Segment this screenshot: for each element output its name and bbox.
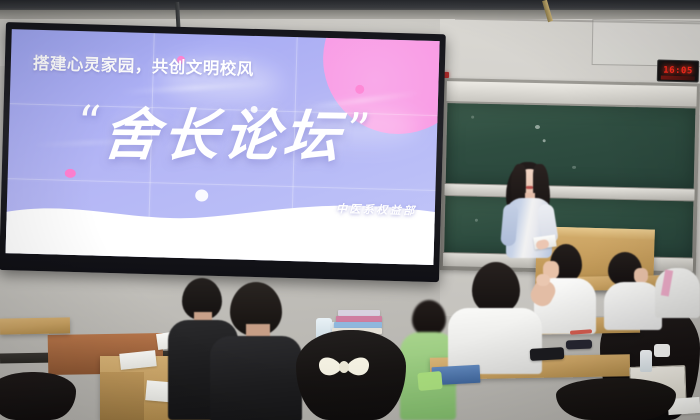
student-torso: [448, 308, 542, 374]
cup-on-desk: [654, 344, 670, 357]
presenter-lips: [526, 186, 533, 189]
classroom-photo: 16:05 搭建心灵家园，共创文明校风 “ 舍长论坛: [0, 0, 700, 420]
presentation-slide: 搭建心灵家园，共创文明校风 “ 舍长论坛 ” 中医系权益部: [6, 29, 440, 265]
student-long-hair: [556, 378, 676, 420]
water-bottle-3: [640, 350, 652, 372]
student-face-profile: [634, 268, 648, 283]
slide-wave-decoration: [6, 179, 440, 265]
chalkboard-top-rail: [446, 81, 696, 106]
student-white-shirt-left: [448, 262, 542, 372]
led-wall-clock: 16:05: [657, 59, 700, 82]
chalkboard-surface-upper: [446, 103, 696, 188]
smartphone-on-desk: [530, 347, 565, 361]
smartphone-on-desk-2: [566, 340, 592, 350]
student-head: [412, 300, 446, 336]
slide-quote-open: “: [78, 122, 102, 123]
student-with-pink-strap: [655, 258, 700, 318]
desk-left-panel: [100, 372, 144, 420]
ceiling-strip: [0, 10, 700, 19]
student-head: [472, 262, 520, 314]
student-black-shirt-2: [210, 282, 302, 420]
hair-bow-accessory: [316, 352, 372, 382]
led-video-wall: 搭建心灵家园，共创文明校风 “ 舍长论坛 ” 中医系权益部: [0, 22, 446, 282]
clock-digits: 16:05: [663, 66, 693, 76]
green-item-on-desk: [417, 371, 442, 391]
student-long-hair: [0, 372, 76, 420]
student-torso: [604, 282, 662, 330]
student-with-hair-bow: [296, 330, 406, 420]
slide-signature: 中医系权益部: [336, 200, 417, 218]
desk-far-left: [0, 317, 70, 334]
slide-title-group: “ 舍长论坛 ”: [20, 81, 429, 190]
student-dark-hair-left: [0, 372, 76, 420]
student-torso: [210, 336, 302, 420]
student-foreground-edge: [556, 378, 676, 420]
clock-lower-band: [661, 76, 695, 81]
slide-title: 舍长论坛: [100, 107, 346, 165]
slide-quote-close: ”: [347, 130, 371, 131]
